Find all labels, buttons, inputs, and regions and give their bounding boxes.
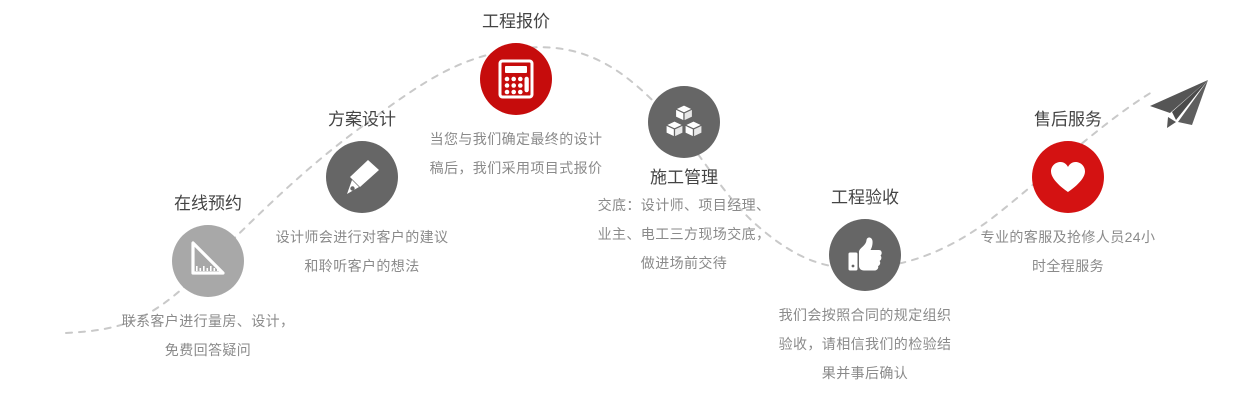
ruler-triangle-icon — [187, 240, 229, 282]
step-icon-circle[interactable] — [326, 141, 398, 213]
step-icon-circle[interactable] — [172, 225, 244, 297]
step-description: 当您与我们确定最终的设计稿后，我们采用项目式报价 — [426, 125, 606, 183]
step-after-sales-service[interactable]: 售后服务 专业的客服及抢修人员24小时全程服务 — [978, 108, 1158, 281]
step-icon-circle[interactable] — [829, 219, 901, 291]
step-description: 联系客户进行量房、设计，免费回答疑问 — [118, 307, 298, 365]
step-description: 我们会按照合同的规定组织验收，请相信我们的检验结果并事后确认 — [775, 301, 955, 388]
process-flow-diagram: 在线预约 联系客户进行量房、设计，免费回答疑问 方案设计 — [0, 0, 1245, 402]
fountain-pen-icon — [341, 156, 383, 198]
step-online-booking[interactable]: 在线预约 联系客户进行量房、设计，免费回答疑问 — [118, 192, 298, 365]
step-icon-circle[interactable] — [648, 86, 720, 158]
step-icon-circle[interactable] — [1032, 141, 1104, 213]
step-description: 专业的客服及抢修人员24小时全程服务 — [978, 223, 1158, 281]
calculator-icon — [495, 58, 537, 100]
step-project-acceptance[interactable]: 工程验收 我们会按照合同的规定组织验收，请相信我们的检验结果并事后确认 — [775, 186, 955, 388]
step-icon-circle[interactable] — [480, 43, 552, 115]
step-title: 在线预约 — [118, 192, 298, 216]
step-title: 施工管理 — [594, 166, 774, 190]
step-description: 交底：设计师、项目经理、业主、电工三方现场交底，做进场前交待 — [594, 191, 774, 278]
step-scheme-design[interactable]: 方案设计 设计师会进行对客户的建议和聆听客户的想法 — [272, 108, 452, 281]
step-title: 工程验收 — [775, 186, 955, 210]
step-title: 工程报价 — [426, 10, 606, 34]
stacked-boxes-icon — [663, 101, 705, 143]
step-description: 设计师会进行对客户的建议和聆听客户的想法 — [272, 223, 452, 281]
step-title: 售后服务 — [978, 108, 1158, 132]
step-project-quotation[interactable]: 工程报价 当您与我们确定最终的设计稿后，我们采用项目 — [426, 10, 606, 183]
heart-icon — [1047, 156, 1089, 198]
step-construction-management[interactable]: 施工管理 交底：设计师、项目经理、业主、电工三方现场交底，做进场前交待 — [594, 86, 774, 278]
thumbs-up-icon — [844, 234, 886, 276]
step-title: 方案设计 — [272, 108, 452, 132]
